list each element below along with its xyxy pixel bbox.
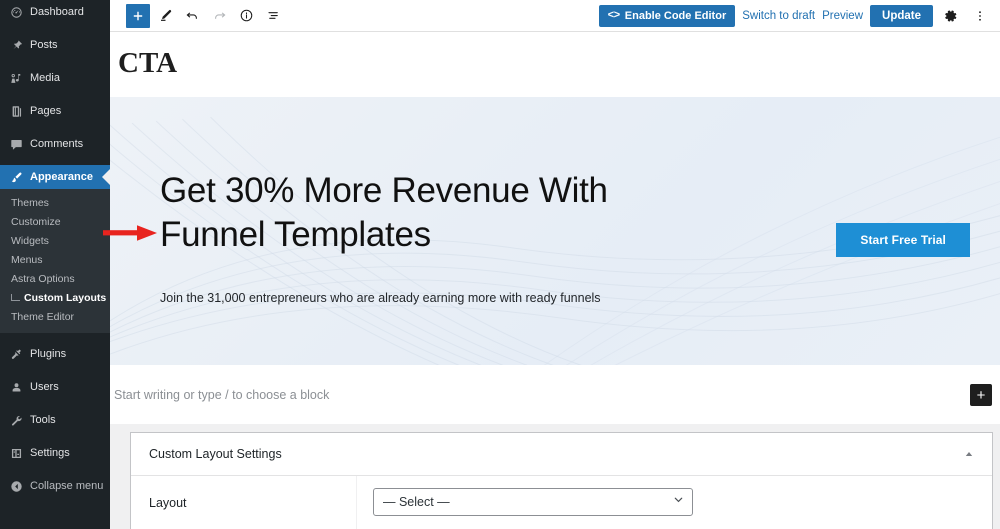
- code-brackets-icon: <>: [608, 10, 620, 22]
- plus-icon: [131, 9, 145, 23]
- editor-main-region: <> Enable Code Editor Switch to draft Pr…: [110, 0, 1000, 529]
- submenu-label: Menus: [11, 251, 43, 270]
- hero-content: Get 30% More Revenue With Funnel Templat…: [110, 97, 1000, 365]
- submenu-label: Theme Editor: [11, 308, 74, 327]
- submenu-item-menus[interactable]: Menus: [0, 251, 110, 270]
- users-icon: [9, 380, 23, 394]
- appender-add-block-button[interactable]: +: [970, 384, 992, 406]
- submenu-item-custom-layouts[interactable]: Custom Layouts: [0, 289, 110, 308]
- hero-heading[interactable]: Get 30% More Revenue With Funnel Templat…: [160, 169, 680, 257]
- post-title-region[interactable]: CTA: [110, 32, 1000, 97]
- pencil-icon: [158, 8, 173, 23]
- layout-select-wrapper: — Select —: [373, 488, 693, 516]
- layout-field-control: — Select —: [357, 476, 992, 529]
- sidebar-item-appearance[interactable]: Appearance: [0, 165, 110, 189]
- appearance-submenu: Themes Customize Widgets Menus Astra Opt…: [0, 189, 110, 333]
- sidebar-item-label: Posts: [30, 33, 58, 57]
- metabox-header[interactable]: Custom Layout Settings: [131, 433, 992, 476]
- hero-subtext[interactable]: Join the 31,000 entrepreneurs who are al…: [160, 291, 601, 305]
- gear-icon[interactable]: [940, 5, 962, 27]
- settings-sliders-icon: [9, 446, 23, 460]
- sidebar-item-label: Dashboard: [30, 0, 84, 24]
- undo-icon: [185, 8, 200, 23]
- start-free-trial-button[interactable]: Start Free Trial: [836, 223, 970, 257]
- media-icon: [9, 71, 23, 85]
- default-block-appender[interactable]: Start writing or type / to choose a bloc…: [110, 365, 1000, 424]
- comments-icon: [9, 137, 23, 151]
- cta-hero-block[interactable]: Get 30% More Revenue With Funnel Templat…: [110, 97, 1000, 365]
- wordpress-block-editor-screen: Dashboard Posts Media Pages Comments: [0, 0, 1000, 529]
- post-title[interactable]: CTA: [114, 32, 1000, 97]
- sidebar-item-media[interactable]: Media: [0, 66, 110, 90]
- collapse-arrow-icon: [9, 479, 23, 493]
- metabox-title: Custom Layout Settings: [149, 447, 282, 461]
- redo-button[interactable]: [207, 4, 231, 28]
- sidebar-item-label: Collapse menu: [30, 474, 103, 498]
- switch-to-draft-button[interactable]: Switch to draft: [742, 10, 815, 22]
- sidebar-item-posts[interactable]: Posts: [0, 33, 110, 57]
- submenu-item-themes[interactable]: Themes: [0, 194, 110, 213]
- details-button[interactable]: [234, 4, 258, 28]
- sidebar-item-label: Settings: [30, 441, 70, 465]
- submenu-item-widgets[interactable]: Widgets: [0, 232, 110, 251]
- metabox-body: Layout — Select —: [131, 476, 992, 529]
- sidebar-item-label: Pages: [30, 99, 61, 123]
- layout-select[interactable]: — Select —: [373, 488, 693, 516]
- submenu-label: Customize: [11, 213, 61, 232]
- preview-button[interactable]: Preview: [822, 10, 863, 22]
- enable-code-editor-label: Enable Code Editor: [625, 10, 726, 22]
- list-view-button[interactable]: [261, 4, 285, 28]
- pages-icon: [9, 104, 23, 118]
- submenu-corner-icon: [11, 294, 20, 301]
- layout-field-label: Layout: [131, 476, 357, 529]
- submenu-label: Custom Layouts: [24, 289, 106, 308]
- sidebar-item-label: Tools: [30, 408, 56, 432]
- tools-wrench-icon: [9, 413, 23, 427]
- sidebar-item-plugins[interactable]: Plugins: [0, 342, 110, 366]
- submenu-label: Widgets: [11, 232, 49, 251]
- sidebar-item-label: Users: [30, 375, 59, 399]
- more-vertical-icon[interactable]: [969, 5, 991, 27]
- editor-toolbar: <> Enable Code Editor Switch to draft Pr…: [110, 0, 1000, 32]
- sidebar-item-settings[interactable]: Settings: [0, 441, 110, 465]
- toolbar-right-group: <> Enable Code Editor Switch to draft Pr…: [599, 5, 991, 27]
- undo-button[interactable]: [180, 4, 204, 28]
- chevron-up-icon[interactable]: [960, 445, 978, 463]
- update-button[interactable]: Update: [870, 5, 933, 27]
- sidebar-item-comments[interactable]: Comments: [0, 132, 110, 156]
- info-icon: [239, 8, 254, 23]
- sidebar-item-dashboard[interactable]: Dashboard: [0, 0, 110, 24]
- submenu-item-theme-editor[interactable]: Theme Editor: [0, 308, 110, 327]
- submenu-label: Themes: [11, 194, 49, 213]
- admin-sidebar: Dashboard Posts Media Pages Comments: [0, 0, 110, 529]
- appender-placeholder-text: Start writing or type / to choose a bloc…: [114, 388, 329, 402]
- toolbar-left-group: [126, 4, 285, 28]
- sidebar-item-label: Appearance: [30, 165, 93, 189]
- dashboard-icon: [9, 5, 23, 19]
- tools-pencil-button[interactable]: [153, 4, 177, 28]
- sidebar-item-collapse-menu[interactable]: Collapse menu: [0, 474, 110, 498]
- sidebar-item-users[interactable]: Users: [0, 375, 110, 399]
- pin-icon: [9, 38, 23, 52]
- appearance-brush-icon: [9, 170, 23, 184]
- submenu-item-customize[interactable]: Customize: [0, 213, 110, 232]
- list-view-icon: [266, 8, 281, 23]
- sidebar-item-label: Plugins: [30, 342, 66, 366]
- custom-layout-settings-metabox: Custom Layout Settings Layout — Select —: [130, 432, 993, 529]
- metabox-area: Custom Layout Settings Layout — Select —: [110, 424, 1000, 529]
- redo-icon: [212, 8, 227, 23]
- sidebar-item-pages[interactable]: Pages: [0, 99, 110, 123]
- plugins-icon: [9, 347, 23, 361]
- editor-canvas[interactable]: CTA: [110, 32, 1000, 424]
- submenu-item-astra-options[interactable]: Astra Options: [0, 270, 110, 289]
- sidebar-item-tools[interactable]: Tools: [0, 408, 110, 432]
- enable-code-editor-button[interactable]: <> Enable Code Editor: [599, 5, 736, 27]
- submenu-label: Astra Options: [11, 270, 75, 289]
- sidebar-item-label: Media: [30, 66, 60, 90]
- sidebar-item-label: Comments: [30, 132, 83, 156]
- add-block-button[interactable]: [126, 4, 150, 28]
